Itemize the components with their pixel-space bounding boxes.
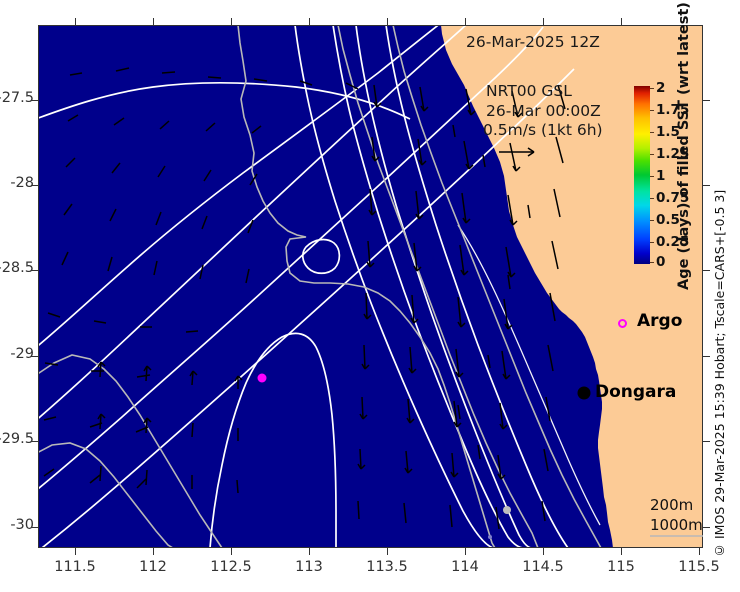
vector-scale-label: 0.5m/s (1kt 6h) — [483, 121, 603, 139]
x-tick-label: 115 — [597, 559, 645, 575]
x-tick-mark-top — [75, 18, 76, 25]
colorbar-title: Age (days) of filled SST (wrt latest) — [676, 40, 698, 290]
x-tick-mark — [309, 548, 310, 555]
x-tick-mark — [75, 548, 76, 555]
x-tick-mark — [621, 548, 622, 555]
x-tick-label: 111.5 — [51, 559, 99, 575]
reference-vector-arrow — [498, 145, 542, 159]
colorbar-gradient — [634, 86, 650, 264]
x-tick-mark-top — [543, 18, 544, 25]
map-canvas — [38, 25, 703, 548]
x-tick-mark — [231, 548, 232, 555]
colorbar-tick — [650, 154, 654, 155]
depth-legend-lines — [650, 512, 703, 542]
x-tick-mark-top — [465, 18, 466, 25]
model-time-label: 26-Mar 00:00Z — [486, 102, 601, 120]
y-tick-mark-right — [703, 356, 710, 357]
x-tick-mark — [387, 548, 388, 555]
y-tick-mark-right — [703, 270, 710, 271]
x-tick-mark-top — [309, 18, 310, 25]
x-tick-label: 112.5 — [207, 559, 255, 575]
colorbar-tick — [650, 242, 654, 243]
model-name-label: NRT00 GSL — [486, 82, 572, 100]
y-tick-mark-right — [703, 100, 710, 101]
y-tick-mark-right — [703, 527, 710, 528]
y-tick-label: -30 — [0, 517, 34, 533]
colorbar-tick — [650, 220, 654, 221]
x-tick-mark-top — [153, 18, 154, 25]
y-tick-mark — [31, 270, 38, 271]
x-tick-label: 113 — [285, 559, 333, 575]
y-tick-mark-right — [703, 185, 710, 186]
x-tick-label: 114.5 — [519, 559, 567, 575]
colorbar-tick — [650, 132, 654, 133]
x-tick-label: 113.5 — [363, 559, 411, 575]
station-dot — [503, 506, 511, 514]
y-tick-label: -28.5 — [0, 260, 34, 276]
y-tick-mark-right — [703, 441, 710, 442]
station-dot-small — [488, 535, 492, 539]
x-tick-mark-top — [621, 18, 622, 25]
argo-float-marker[interactable] — [258, 374, 267, 383]
y-tick-label: -27.5 — [0, 90, 34, 106]
copyright-notice: © IMOS 29-Mar-2025 15:39 Hobart; Tscale=… — [712, 178, 730, 558]
y-tick-mark — [31, 185, 38, 186]
y-tick-label: -29.5 — [0, 431, 34, 447]
colorbar-label-2: 2 — [656, 80, 665, 96]
x-tick-mark — [465, 548, 466, 555]
y-tick-mark — [31, 100, 38, 101]
colorbar-label-1: 1 — [656, 168, 665, 184]
y-tick-mark — [31, 441, 38, 442]
argo-legend-label: Argo — [637, 311, 682, 331]
x-tick-label: 114 — [441, 559, 489, 575]
colorbar-tick — [650, 176, 654, 177]
argo-legend-icon — [618, 319, 627, 328]
x-tick-label: 115.5 — [675, 559, 723, 575]
x-tick-mark-top — [231, 18, 232, 25]
figure-root: 26-Mar-2025 12Z NRT00 GSL 26-Mar 00:00Z … — [0, 0, 740, 592]
y-tick-mark — [31, 356, 38, 357]
colorbar-tick — [650, 198, 654, 199]
dongara-label: Dongara — [595, 382, 676, 402]
dongara-town-marker — [578, 387, 591, 400]
map-plot-area[interactable]: 26-Mar-2025 12Z NRT00 GSL 26-Mar 00:00Z … — [38, 25, 703, 548]
x-tick-mark — [699, 548, 700, 555]
colorbar-tick — [650, 110, 654, 111]
y-tick-mark — [31, 527, 38, 528]
colorbar-tick — [650, 88, 654, 89]
x-tick-mark-top — [387, 18, 388, 25]
x-tick-mark — [543, 548, 544, 555]
y-tick-label: -28 — [0, 175, 34, 191]
colorbar-tick — [650, 262, 654, 263]
x-tick-mark — [153, 548, 154, 555]
y-tick-label: -29 — [0, 346, 34, 362]
x-tick-label: 112 — [129, 559, 177, 575]
timestamp-label: 26-Mar-2025 12Z — [466, 33, 600, 51]
colorbar-label-0: 0 — [656, 254, 665, 270]
